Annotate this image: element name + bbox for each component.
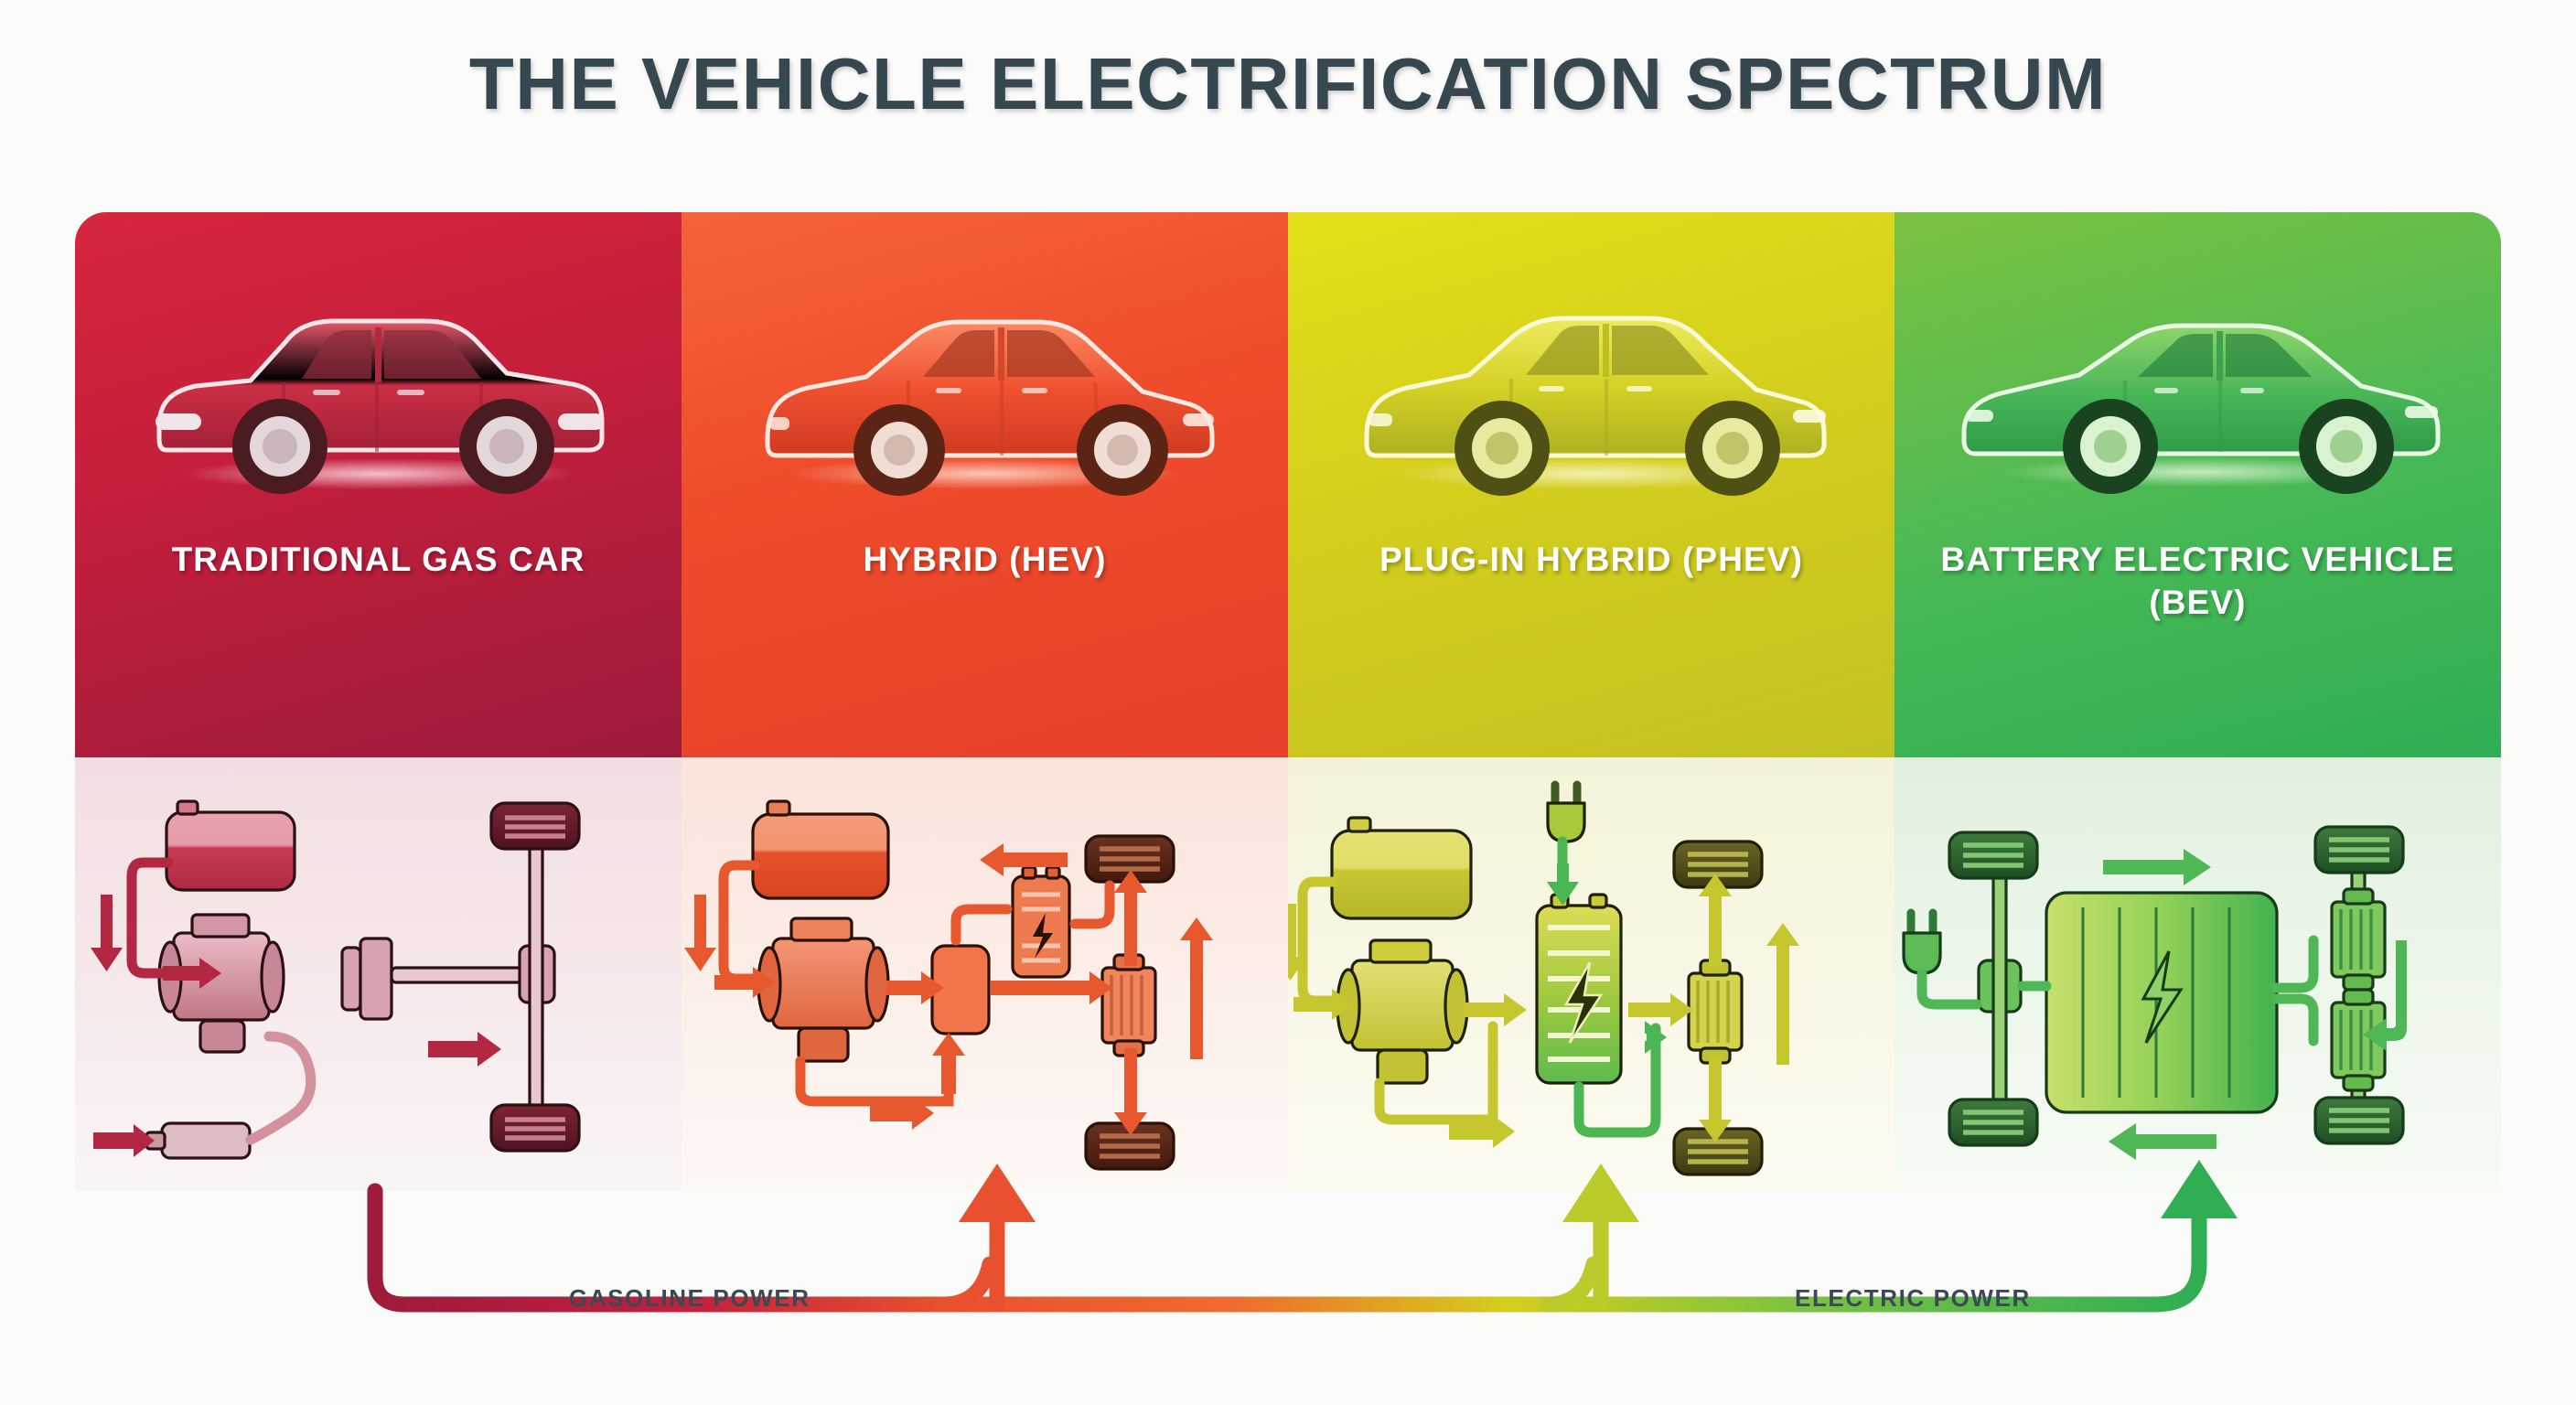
page-title: THE VEHICLE ELECTRIFICATION SPECTRUM: [0, 42, 2576, 126]
panel-label-gas-car: TRADITIONAL GAS CAR: [75, 538, 682, 581]
car-illustration-sedan: [123, 243, 635, 518]
flow-label-gasoline: GASOLINE POWER: [569, 1284, 810, 1313]
vehicle-panel-strip: TRADITIONAL GAS CAR: [75, 212, 2501, 757]
car-illustration-crossover: [1336, 243, 1848, 518]
panel-label-bev: BATTERY ELECTRIC VEHICLE (BEV): [1894, 538, 2501, 625]
powertrain-hybrid-hev: [682, 757, 1288, 1191]
panel-plug-in-hybrid-phev[interactable]: PLUG-IN HYBRID (PHEV): [1288, 212, 1894, 757]
panel-battery-electric-vehicle[interactable]: BATTERY ELECTRIC VEHICLE (BEV): [1894, 212, 2501, 757]
panel-label-phev: PLUG-IN HYBRID (PHEV): [1288, 538, 1894, 581]
spectrum-board: TRADITIONAL GAS CAR: [75, 212, 2501, 1191]
powertrain-battery-electric: [1894, 757, 2501, 1191]
energy-flow-track: [0, 1143, 2576, 1363]
powertrain-diagram-strip: [75, 757, 2501, 1191]
flow-label-electric: ELECTRIC POWER: [1795, 1284, 2031, 1313]
powertrain-traditional-gas-car: [75, 757, 682, 1191]
infographic-root: THE VEHICLE ELECTRIFICATION SPECTRUM: [0, 0, 2576, 1405]
flow-arrow-phev: [1562, 1164, 1639, 1222]
panel-label-hev: HYBRID (HEV): [682, 538, 1288, 581]
car-illustration-hatchback: [729, 243, 1241, 518]
car-illustration-electric-sedan: [1942, 243, 2454, 518]
flow-arrow-hev: [959, 1164, 1036, 1222]
flow-arrow-bev: [2161, 1160, 2238, 1218]
panel-traditional-gas-car[interactable]: TRADITIONAL GAS CAR: [75, 212, 682, 757]
powertrain-plug-in-hybrid: [1288, 757, 1894, 1191]
panel-hybrid-hev[interactable]: HYBRID (HEV): [682, 212, 1288, 757]
